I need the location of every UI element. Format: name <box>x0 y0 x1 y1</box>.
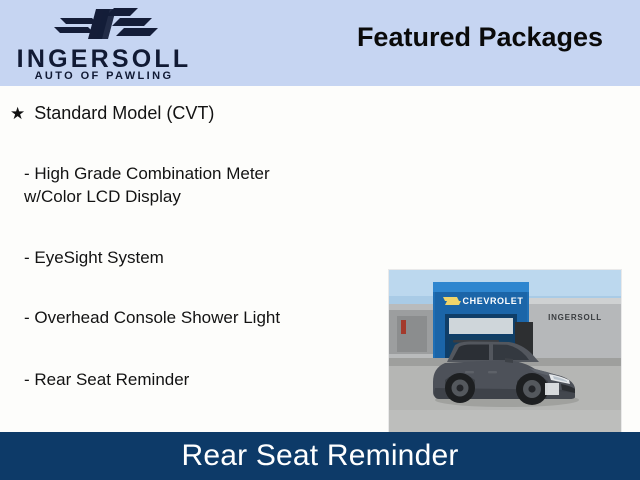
header-band: INGERSOLL AUTO OF PAWLING Featured Packa… <box>0 0 640 86</box>
feature-item: - EyeSight System <box>24 246 364 269</box>
brand-logo: INGERSOLL AUTO OF PAWLING <box>0 2 205 84</box>
footer-title: Rear Seat Reminder <box>181 439 458 473</box>
slide-canvas: INGERSOLL AUTO OF PAWLING Featured Packa… <box>0 0 640 480</box>
feature-item: - Rear Seat Reminder <box>24 368 364 391</box>
ingersoll-winged-emblem-icon <box>52 6 160 44</box>
standard-model-headline: ★ Standard Model (CVT) <box>10 103 214 124</box>
feature-item: - High Grade Combination Meter w/Color L… <box>24 162 364 208</box>
star-bullet-icon: ★ <box>10 105 25 122</box>
body-content: ★ Standard Model (CVT) - High Grade Comb… <box>0 86 640 432</box>
brand-wordmark: INGERSOLL <box>8 46 200 72</box>
footer-banner: Rear Seat Reminder <box>0 432 640 480</box>
standard-model-label: Standard Model (CVT) <box>34 103 214 124</box>
page-title: Featured Packages <box>330 22 630 53</box>
building-sign-text: INGERSOLL <box>548 313 602 322</box>
dealer-sign-text: CHEVROLET <box>463 296 524 306</box>
vehicle-photo: INGERSOLL CHEVROLET <box>388 269 622 444</box>
vehicle-photo-image: INGERSOLL CHEVROLET <box>389 270 622 444</box>
feature-item: - Overhead Console Shower Light <box>24 306 364 329</box>
brand-subwordmark: AUTO OF PAWLING <box>8 70 200 82</box>
